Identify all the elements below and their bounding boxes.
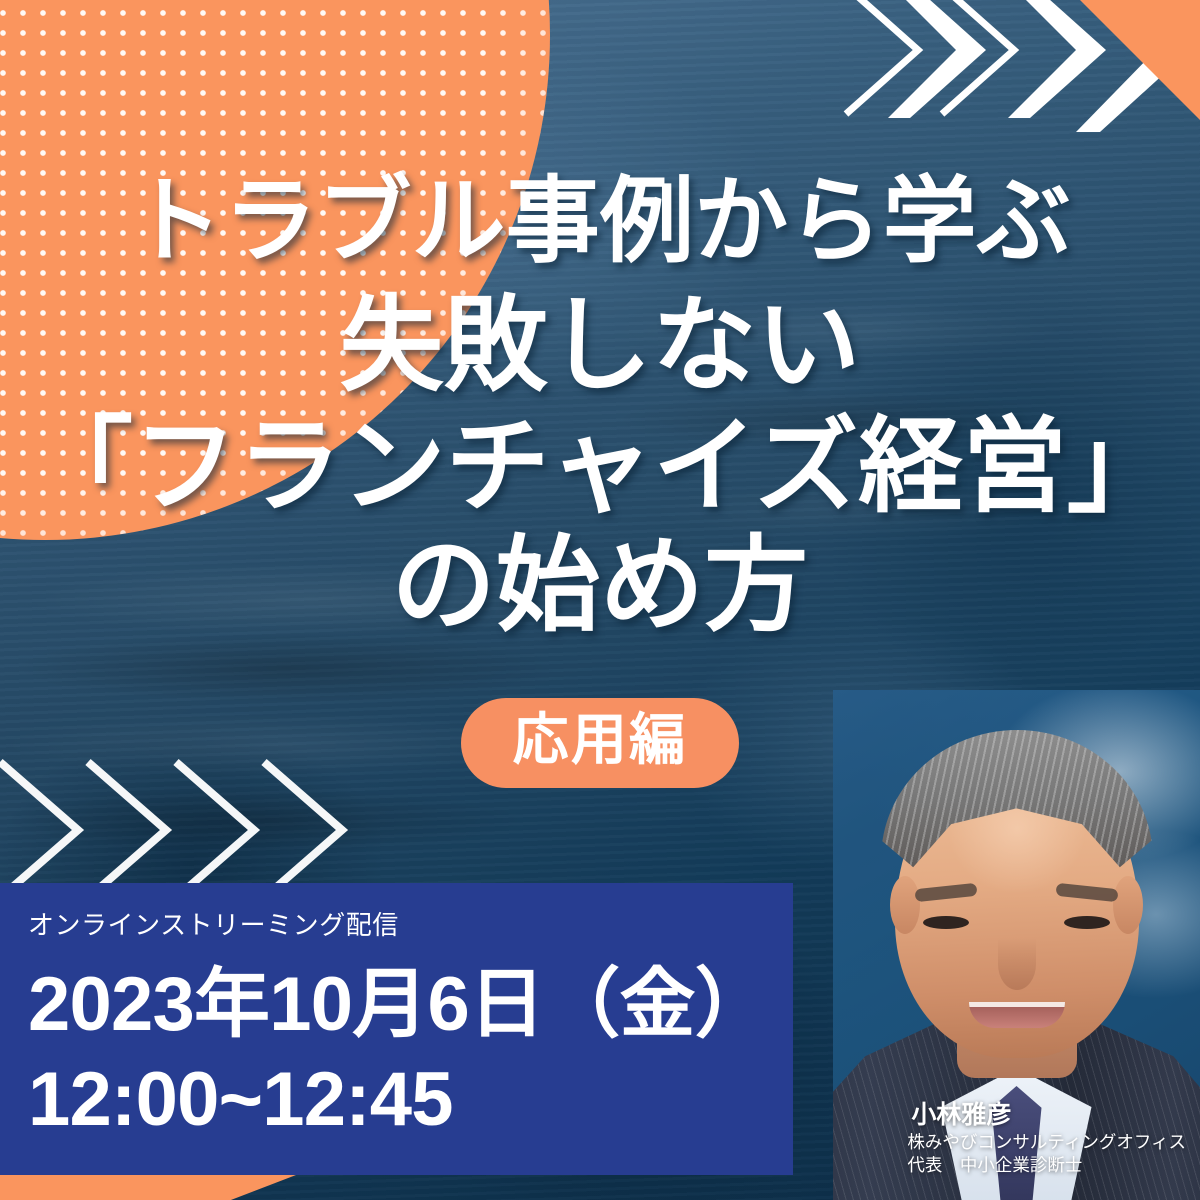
speaker-eye-right <box>1064 916 1110 929</box>
headline-line-4: の始め方 <box>0 527 1200 646</box>
streaming-label: オンラインストリーミング配信 <box>28 905 793 942</box>
speaker-caption: 小林雅彦 株みやびコンサルティングオフィス 代表 中小企業診断士 <box>907 1099 1186 1176</box>
webinar-banner: トラブル事例から学ぶ 失敗しない 「フランチャイズ経営」 の始め方 応用編 小林… <box>0 0 1200 1200</box>
speaker-nose <box>998 938 1036 990</box>
speaker-role: 代表 中小企業診断士 <box>907 1154 1186 1176</box>
speaker-mouth <box>969 1002 1065 1028</box>
headline-line-2: 失敗しない <box>0 285 1200 408</box>
headline-line-1: トラブル事例から学ぶ <box>0 168 1200 273</box>
speaker-eye-left <box>923 916 969 929</box>
level-badge: 応用編 <box>461 698 740 788</box>
event-date: 2023年10月6日（金） <box>28 964 793 1046</box>
speaker-name: 小林雅彦 <box>911 1099 1186 1131</box>
speaker-ear-right <box>1113 876 1143 934</box>
headline-block: トラブル事例から学ぶ 失敗しない 「フランチャイズ経営」 の始め方 <box>0 168 1200 645</box>
headline-line-3: 「フランチャイズ経営」 <box>0 408 1200 527</box>
speaker-ear-left <box>890 876 920 934</box>
speaker-organization: 株みやびコンサルティングオフィス <box>907 1131 1186 1153</box>
badge-container: 応用編 <box>0 698 1200 788</box>
event-info-panel: オンラインストリーミング配信 2023年10月6日（金） 12:00~12:45 <box>0 883 793 1175</box>
event-time: 12:00~12:45 <box>28 1060 793 1141</box>
